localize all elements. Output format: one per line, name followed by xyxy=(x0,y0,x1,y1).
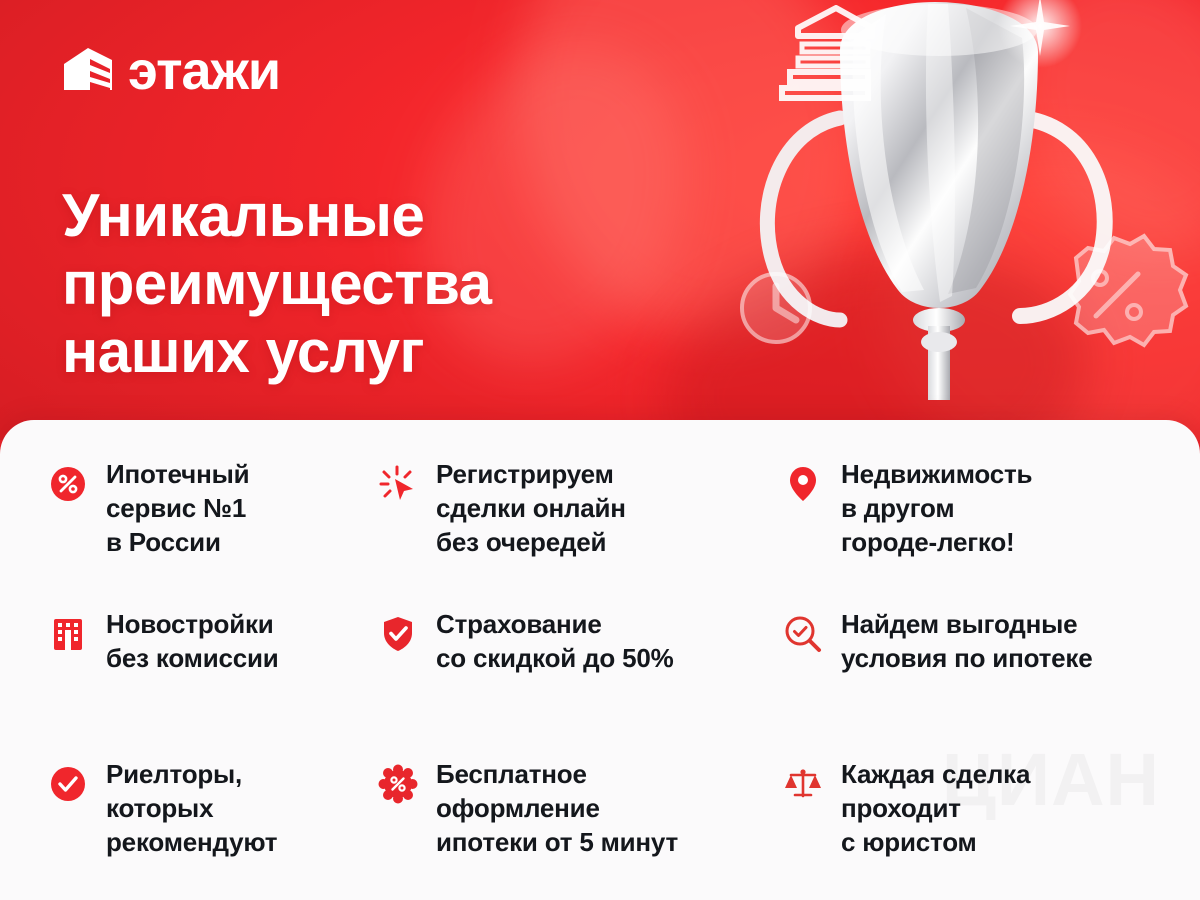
features-card: ЦИАН Ипотечный сервис №1 в России xyxy=(0,420,1200,900)
search-check-icon xyxy=(783,614,823,654)
features-grid: Ипотечный сервис №1 в России Регистрируе… xyxy=(48,458,1158,900)
silk-shape xyxy=(462,0,918,382)
headline-line-1: Уникальные xyxy=(62,182,492,250)
feature-text: Каждая сделка проходит с юристом xyxy=(841,758,1030,859)
brand-name: этажи xyxy=(128,44,280,98)
hero-section: этажи Уникальные преимущества наших услу… xyxy=(0,0,1200,440)
feature-item[interactable]: Бесплатное оформление ипотеки от 5 минут xyxy=(378,758,783,900)
clock-icon xyxy=(742,274,810,342)
headline-line-3: наших услуг xyxy=(62,318,492,386)
percent-circle-icon xyxy=(48,464,88,504)
feature-text: Недвижимость в другом городе-легко! xyxy=(841,458,1032,559)
silk-shape xyxy=(968,0,1200,297)
feature-text: Найдем выгодные условия по ипотеке xyxy=(841,608,1093,676)
feature-text: Новостройки без комиссии xyxy=(106,608,279,676)
check-circle-icon xyxy=(48,764,88,804)
shield-check-icon xyxy=(378,614,418,654)
feature-item[interactable]: Риелторы, которых рекомендуют xyxy=(48,758,378,900)
percent-badge-icon xyxy=(1070,236,1186,345)
feature-item[interactable]: Новостройки без комиссии xyxy=(48,608,378,758)
brand-logo[interactable]: этажи xyxy=(62,44,280,98)
page-title: Уникальные преимущества наших услуг xyxy=(62,182,492,385)
feature-item[interactable]: Каждая сделка проходит с юристом xyxy=(783,758,1158,900)
headline-line-2: преимущества xyxy=(62,250,492,318)
building-logo-icon xyxy=(62,46,114,96)
feature-item[interactable]: Ипотечный сервис №1 в России xyxy=(48,458,378,608)
feature-item[interactable]: Страхование со скидкой до 50% xyxy=(378,608,783,758)
feature-item[interactable]: Регистрируем сделки онлайн без очередей xyxy=(378,458,783,608)
silk-shape xyxy=(644,221,1106,440)
bank-icon xyxy=(782,8,872,98)
silk-shape xyxy=(846,109,1200,440)
feature-text: Регистрируем сделки онлайн без очередей xyxy=(436,458,626,559)
scales-justice-icon xyxy=(783,764,823,804)
feature-text: Бесплатное оформление ипотеки от 5 минут xyxy=(436,758,678,859)
feature-text: Ипотечный сервис №1 в России xyxy=(106,458,249,559)
percent-badge-icon xyxy=(378,764,418,804)
apartment-building-icon xyxy=(48,614,88,654)
feature-item[interactable]: Недвижимость в другом городе-легко! xyxy=(783,458,1158,608)
feature-text: Риелторы, которых рекомендуют xyxy=(106,758,277,859)
map-pin-icon xyxy=(783,464,823,504)
feature-text: Страхование со скидкой до 50% xyxy=(436,608,674,676)
promo-banner: этажи Уникальные преимущества наших услу… xyxy=(0,0,1200,900)
feature-item[interactable]: Найдем выгодные условия по ипотеке xyxy=(783,608,1158,758)
cursor-click-icon xyxy=(378,464,418,504)
trophy-illustration xyxy=(690,0,1200,440)
